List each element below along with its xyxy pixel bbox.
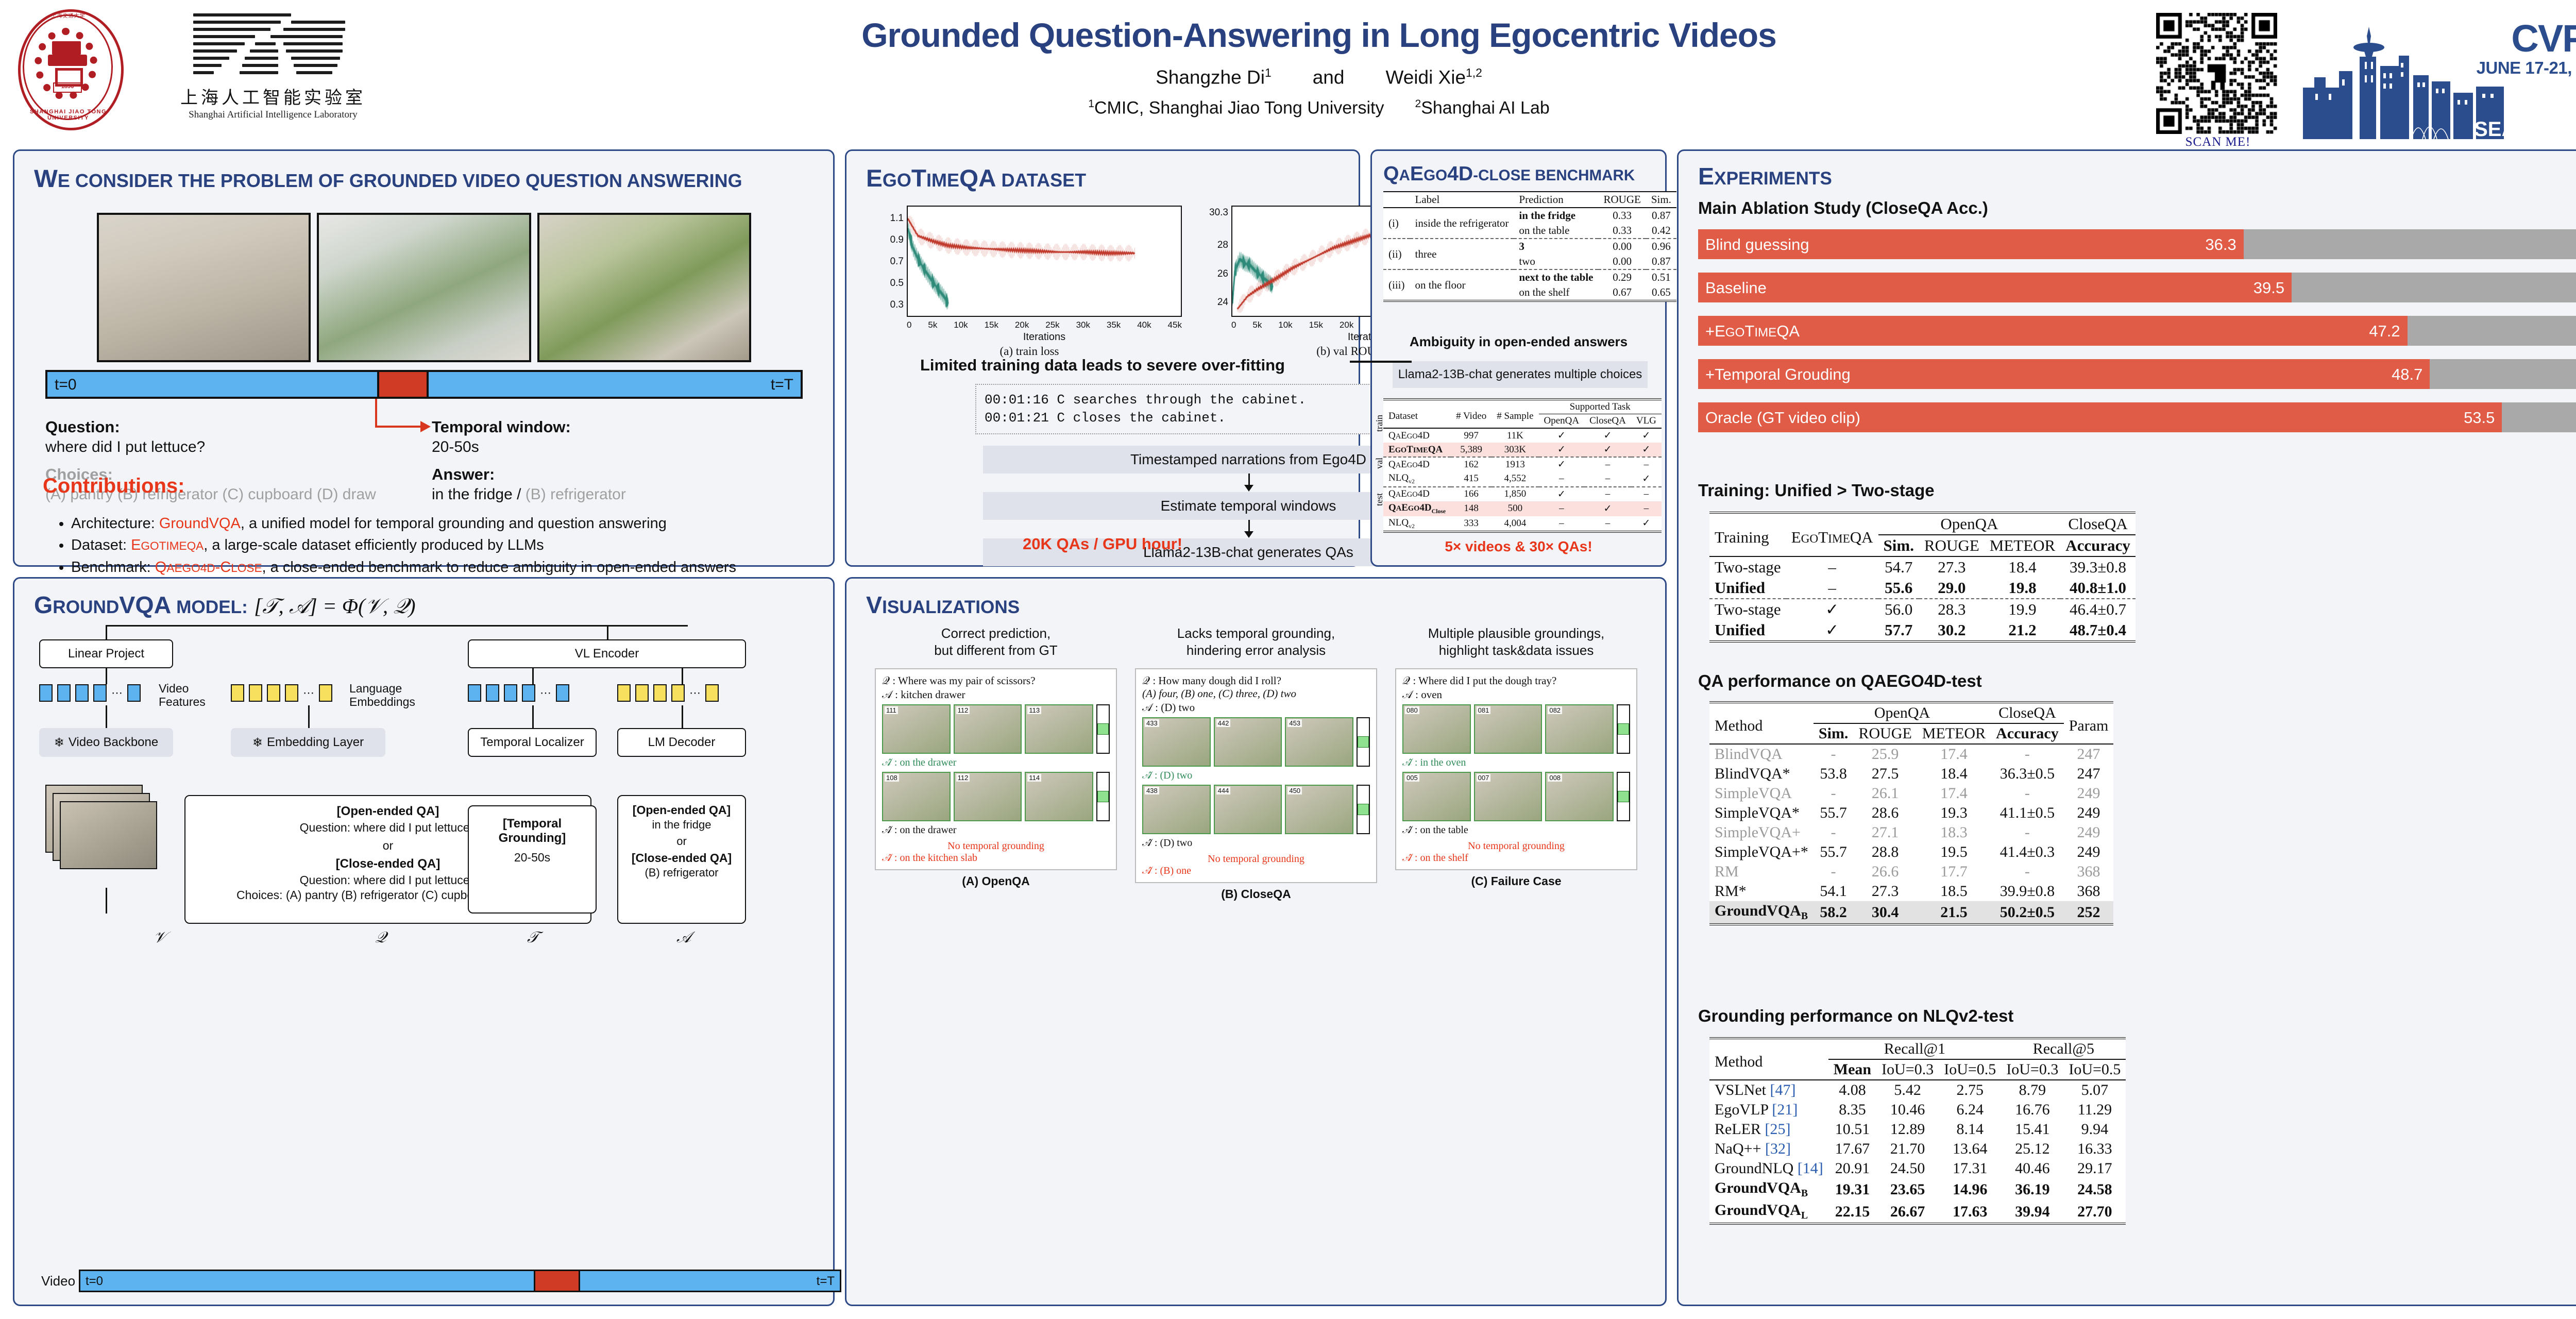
connector-5	[682, 668, 683, 684]
pipeline-to-benchmark-connector	[1350, 361, 1412, 363]
ablation-bar-fill: +Temporal Grouding48.7	[1698, 359, 2430, 389]
author-1: Shangzhe Di	[1156, 66, 1265, 88]
visualization-timeline-bar	[1357, 785, 1370, 834]
contribution-tail: , a unified model for temporal grounding…	[241, 515, 667, 532]
ablation-bar-fill: Oracle (GT video clip)53.5	[1698, 402, 2502, 432]
frame-number: 114	[1027, 774, 1041, 782]
row-sim: 0.65	[1646, 285, 1676, 300]
row-sim: 0.87	[1646, 254, 1676, 269]
question-label: Question:	[45, 418, 406, 436]
panel-qaego4d-close-benchmark: QAEGO4D-CLOSE BENCHMARKLabelPredictionRO…	[1370, 149, 1667, 567]
stats-closeqa: ✓	[1584, 443, 1631, 457]
stats-sample: 1,850	[1492, 487, 1538, 501]
contribution-name: GroundVQA	[159, 515, 241, 532]
row-rouge: 0.29	[1598, 269, 1646, 285]
visualization-heading: Correct prediction,but different from GT	[875, 625, 1117, 665]
sjtu-logo-icon: 上海交通大学 1896 SHANGHAI JIAO TONG UNIVERSIT…	[18, 9, 118, 125]
temporal-window-label: Temporal window:	[432, 418, 792, 436]
th-vlg: VLG	[1631, 414, 1662, 429]
ablation-bar-label: Blind guessing	[1705, 235, 1809, 254]
table-row: ReLER [25]10.5112.898.1415.419.94	[1709, 1120, 2126, 1139]
panel-problem-statement: WE CONSIDER THE PROBLEM OF GROUNDED VIDE…	[13, 149, 835, 567]
author-list: Shangzhe Di1andWeidi Xie1,2	[618, 66, 2020, 88]
stats-dataset: QAEGO4D	[1383, 457, 1451, 471]
sail-chinese-name: 上海人工智能实验室	[162, 83, 384, 109]
llama-box: Llama2-13B-chat generates multiple choic…	[1393, 361, 1648, 388]
visualization-frame-row: 005007008	[1402, 772, 1630, 821]
stats-vlg: –	[1631, 457, 1662, 471]
th-rouge: ROUGE	[1598, 192, 1646, 208]
visualization-question: 𝒬 : Where was my pair of scissors?	[882, 674, 1110, 687]
frame-number: 113	[1027, 706, 1041, 714]
contribution-item: Benchmark: QAEGO4D-CLOSE, a close-ended …	[71, 556, 844, 578]
open-qa-output-tag: [Open-ended QA]	[622, 803, 741, 817]
frame-number: 453	[1287, 719, 1302, 727]
stats-dataset: QAEGO4DClose	[1383, 501, 1451, 516]
visualization-card: 𝒬 : Where was my pair of scissors?𝒜 : ki…	[875, 668, 1117, 870]
row-prediction: on the shelf	[1514, 285, 1598, 300]
visualization-frame: 007	[1474, 772, 1543, 821]
stats-split-label: test	[1374, 493, 1385, 506]
panel-groundvqa-model: GROUNDVQA MODEL: [𝒯, 𝒜] = Φ(𝒱, 𝒬) Linear…	[13, 577, 835, 1306]
grounding-output-text: 20-50s	[474, 851, 590, 865]
table-row: RM-26.617.7-368	[1709, 862, 2113, 882]
close-qa-output-text: (B) refrigerator	[622, 866, 741, 880]
visualization-card: 𝒬 : How many dough did I roll?(A) four, …	[1135, 668, 1377, 883]
table-row: SimpleVQA+-27.118.3-249	[1709, 823, 2113, 842]
encoder-out-row-2: ⋯	[617, 684, 719, 702]
chart-xtick: 15k	[985, 320, 998, 330]
stats-vlg: ✓	[1631, 428, 1662, 443]
stats-video: 148	[1451, 501, 1492, 516]
stats-dataset: EGOTIMEQA	[1383, 443, 1451, 457]
th-sample: # Sample	[1492, 399, 1538, 428]
frame-number: 082	[1548, 706, 1562, 714]
connector-7	[682, 705, 683, 728]
row-rouge: 0.00	[1598, 239, 1646, 254]
poster-root: 上海交通大学 1896 SHANGHAI JIAO TONG UNIVERSIT…	[0, 0, 2576, 1319]
video-row-label: Video	[41, 1274, 75, 1289]
row-index: (iii)	[1383, 269, 1410, 300]
stats-dataset: QAEGO4D	[1383, 428, 1451, 443]
stats-openqa: ✓	[1539, 443, 1585, 457]
benchmark-table: LabelPredictionROUGESim.(i)inside the re…	[1383, 191, 1676, 302]
dataset-stats-table: Dataset# Video# SampleSupported TaskOpen…	[1383, 398, 1662, 533]
model-panel-title: GROUNDVQA MODEL: [𝒯, 𝒜] = Φ(𝒱, 𝒬)	[34, 591, 416, 619]
answer-block: Temporal window: 20-50s Answer: in the f…	[432, 418, 792, 503]
qr-code[interactable]	[2156, 13, 2277, 134]
visualization-timeline-bar	[1617, 704, 1630, 754]
row-label: on the floor	[1410, 269, 1514, 300]
symbol-a: 𝒜	[676, 929, 691, 947]
stats-sample: 4,552	[1492, 471, 1538, 487]
simplevqa-answer: 𝒜̂ : (B) one	[1142, 865, 1370, 877]
frame-number: 450	[1287, 787, 1302, 794]
frame-number: 007	[1477, 774, 1491, 782]
th-sim: Sim.	[1878, 535, 1919, 556]
table-row: QAEGO4D99711K✓✓✓	[1383, 428, 1662, 443]
stats-openqa: ✓	[1539, 457, 1585, 471]
affiliation-list: 1CMIC, Shanghai Jiao Tong University2Sha…	[618, 98, 2020, 118]
table-row: BlindVQA-25.917.4-247	[1709, 744, 2113, 764]
grounding-table: MethodRecall@1Recall@5MeanIoU=0.3IoU=0.5…	[1709, 1037, 2126, 1225]
visualization-timeline-bar	[1096, 772, 1110, 821]
stats-vlg: ✓	[1631, 443, 1662, 457]
encoder-out-row-1: ⋯	[468, 684, 569, 702]
stats-dataset: QAEGO4D	[1383, 487, 1451, 501]
stats-vlg: ✓	[1631, 471, 1662, 487]
ablation-bar-label: Baseline	[1705, 279, 1767, 297]
frame-number: 080	[1405, 706, 1419, 714]
oracle-answer: 𝒜̂ : (D) two	[1142, 770, 1370, 782]
sail-english-name: Shanghai Artificial Intelligence Laborat…	[162, 109, 384, 121]
stats-openqa: –	[1539, 501, 1585, 516]
connector-6	[532, 705, 534, 728]
stats-dataset: NLQv2	[1383, 471, 1451, 487]
row-rouge: 0.33	[1598, 208, 1646, 223]
table-row: QAEGO4D1621913✓––	[1383, 457, 1662, 471]
connector-top	[106, 625, 688, 627]
stats-closeqa: –	[1584, 457, 1631, 471]
chart-xtick: 25k	[1045, 320, 1059, 330]
th-dataset: Dataset	[1383, 399, 1451, 428]
th-openqa: OpenQA	[1814, 702, 1991, 723]
connector-video-up	[106, 888, 107, 914]
stats-split-label: val	[1374, 458, 1385, 469]
table-row: BlindVQA*53.827.518.436.3±0.5247	[1709, 764, 2113, 784]
poster-header: 上海交通大学 1896 SHANGHAI JIAO TONG UNIVERSIT…	[0, 0, 2576, 165]
qa-table-wrap: MethodOpenQACloseQAParamSim.ROUGEMETEORA…	[1709, 701, 2113, 925]
author-1-sup: 1	[1265, 66, 1272, 79]
chart-ytick: 30.3	[1199, 207, 1228, 218]
sjtu-year: 1896	[53, 82, 82, 93]
visualization-frame: 082	[1545, 704, 1614, 754]
table-row: GroundVQAB19.3123.6514.9636.1924.58	[1709, 1178, 2126, 1200]
contribution-item: Architecture: GroundVQA, a unified model…	[71, 513, 844, 534]
table-row: QAEGO4D1661,850✓––	[1383, 487, 1662, 501]
sjtu-logo-top-text: 上海交通大学	[18, 11, 118, 19]
chart-xtick: 10k	[1278, 320, 1292, 330]
row-prediction: in the fridge	[1514, 208, 1598, 223]
stats-openqa: ✓	[1539, 487, 1585, 501]
dataset-subtitle: Limited training data leads to severe ov…	[846, 356, 1359, 375]
stats-sample: 303K	[1492, 443, 1538, 457]
chart-a-xticks: 05k10k15k20k25k30k35k40k45k	[907, 320, 1182, 330]
grounding-output-tag: [Temporal Grounding]	[474, 817, 590, 845]
table-row: (i)inside the refrigeratorin the fridge0…	[1383, 208, 1676, 223]
author-2: Weidi Xie	[1385, 66, 1466, 88]
groundvqa-answer: 𝒜̂ : on the table	[1402, 824, 1630, 836]
ablation-bar-label: Oracle (GT video clip)	[1705, 409, 1860, 427]
chart-xtick: 0	[1231, 320, 1236, 330]
th-param: Param	[2064, 702, 2114, 744]
connector-8	[106, 625, 107, 639]
contribution-tail: , a large-scale dataset efficiently prod…	[204, 537, 544, 553]
visualization-frame-row: 438444450	[1142, 785, 1370, 834]
table-row: QAEGO4DClose148500–✓–	[1383, 501, 1662, 516]
affiliation-1: CMIC, Shanghai Jiao Tong University	[1094, 98, 1384, 117]
stats-sample: 500	[1492, 501, 1538, 516]
affil-2-marker: 2	[1415, 98, 1421, 110]
chart-xtick: 5k	[928, 320, 937, 330]
visualization-frame: 444	[1214, 785, 1282, 834]
frame-number: 444	[1216, 787, 1231, 794]
cvpr-city: SEATTLE, WA	[2474, 118, 2576, 141]
ablation-bar-row: Baseline39.5	[1698, 273, 2576, 302]
ablation-bar-value: 39.5	[2253, 279, 2284, 297]
visualization-frame: 433	[1142, 717, 1211, 767]
visualization-question: 𝒬 : How many dough did I roll?	[1142, 674, 1370, 687]
affil-1-marker: 1	[1088, 98, 1094, 110]
visualization-frame: 113	[1025, 704, 1093, 754]
chart-ytick: 0.9	[875, 234, 904, 246]
visualization-frame: 080	[1402, 704, 1471, 754]
stats-sample: 1913	[1492, 457, 1538, 471]
stats-video: 5,389	[1451, 443, 1492, 457]
simplevqa-answer: 𝒜̂ : on the shelf	[1402, 852, 1630, 864]
th-label: Label	[1410, 192, 1514, 208]
frame-number: 438	[1145, 787, 1159, 794]
qa-performance-title: QA performance on QAEGO4D-test	[1698, 671, 1982, 691]
chart-ytick: 28	[1199, 240, 1228, 251]
th-supported-task: Supported Task	[1539, 399, 1662, 414]
model-timeline-window	[534, 1270, 580, 1292]
table-row: Two-stage–54.727.318.439.3±0.8	[1709, 556, 2136, 578]
stats-closeqa: –	[1584, 471, 1631, 487]
visualization-column: Lacks temporal grounding,hindering error…	[1135, 625, 1377, 901]
experiments-panel-title: EXPERIMENTS	[1698, 162, 1832, 190]
model-equation: [𝒯, 𝒜] = Φ(𝒱, 𝒬)	[254, 594, 415, 618]
th-video: # Video	[1451, 399, 1492, 428]
answer-label: Answer:	[432, 465, 792, 484]
stats-video: 415	[1451, 471, 1492, 487]
ablation-bar-label: +EGOTIMEQA	[1705, 322, 1800, 341]
no-grounding-note: No temporal grounding	[882, 840, 1110, 852]
ablation-bar-row: Blind guessing36.3	[1698, 229, 2576, 259]
th-accuracy: Accuracy	[2060, 535, 2136, 556]
box-answer-output: [Open-ended QA] in the fridge or [Close-…	[617, 795, 746, 924]
ablation-bar-row: +EGOTIMEQA47.2	[1698, 316, 2576, 346]
visualization-choices: (A) four, (B) one, (C) three, (D) two	[1142, 687, 1370, 700]
th-recall1: Recall@1	[1828, 1038, 2001, 1059]
table-row: NLQv24154,552––✓	[1383, 471, 1662, 487]
box-embedding-layer: ❄Embedding Layer	[231, 728, 385, 757]
chart-xtick: 20k	[1340, 320, 1353, 330]
chart-ytick: 0.3	[875, 299, 904, 311]
cvpr-name: CVPR	[2477, 22, 2576, 56]
snowflake-icon-2: ❄	[252, 735, 263, 750]
chart-ytick: 1.1	[875, 213, 904, 224]
contribution-head: Benchmark:	[71, 559, 155, 576]
close-qa-output-tag: [Close-ended QA]	[622, 851, 741, 865]
row-prediction: two	[1514, 254, 1598, 269]
frame-number: 112	[956, 774, 970, 782]
affiliation-2: Shanghai AI Lab	[1421, 98, 1550, 117]
visualization-frame-row: 108112114	[882, 772, 1110, 821]
table-row: (ii)three30.000.96	[1383, 239, 1676, 254]
contribution-head: Dataset:	[71, 537, 131, 553]
language-embeddings-label: LanguageEmbeddings	[349, 682, 415, 709]
table-row: GroundNLQ [14]20.9124.5017.3140.4629.17	[1709, 1159, 2126, 1178]
th-prediction: Prediction	[1514, 192, 1598, 208]
row-rouge: 0.00	[1598, 254, 1646, 269]
box-lm-decoder: LM Decoder	[617, 728, 746, 757]
visualization-gt-answer: 𝒜 : kitchen drawer	[882, 688, 1110, 701]
video-frame-1	[97, 213, 311, 362]
stats-sample: 11K	[1492, 428, 1538, 443]
open-qa-output-text: in the fridge	[622, 818, 741, 832]
ablation-title: Main Ablation Study (CloseQA Acc.)	[1698, 198, 1988, 218]
output-or: or	[622, 835, 741, 848]
chart-ytick: 0.7	[875, 256, 904, 267]
ambiguity-note: Ambiguity in open-ended answers	[1372, 334, 1665, 350]
visualization-frame: 114	[1025, 772, 1093, 821]
row-rouge: 0.67	[1598, 285, 1646, 300]
visualization-frame: 438	[1142, 785, 1211, 834]
visualization-column: Multiple plausible groundings,highlight …	[1395, 625, 1637, 888]
qa-performance-table: MethodOpenQACloseQAParamSim.ROUGEMETEORA…	[1709, 701, 2113, 925]
frame-number: 112	[956, 706, 970, 714]
video-token-row: ⋯	[39, 684, 141, 702]
scan-me-label: SCAN ME!	[2146, 135, 2290, 149]
table-row: Unified–55.629.019.840.8±1.0	[1709, 578, 2136, 599]
dataset-footer-note: 20K QAs / GPU hour!	[846, 535, 1359, 553]
visualization-frame: 112	[954, 772, 1022, 821]
chart-xtick: 5k	[1252, 320, 1262, 330]
connector-3	[308, 705, 310, 728]
stats-openqa: –	[1539, 516, 1585, 531]
ablation-bar-fill: Baseline39.5	[1698, 273, 2292, 302]
th-training: Training	[1709, 513, 1786, 556]
frame-number: 433	[1145, 719, 1159, 727]
visualization-timeline-bar	[1357, 717, 1370, 767]
video-frame-3	[537, 213, 751, 362]
visualization-gt-answer: 𝒜 : (D) two	[1142, 701, 1370, 714]
stats-footer: 5× videos & 30× QAs!	[1372, 538, 1665, 555]
contribution-tail: , a close-ended benchmark to reduce ambi…	[262, 559, 737, 576]
training-table-wrap: TrainingEGOTIMEQAOpenQACloseQASim.ROUGEM…	[1709, 512, 2136, 642]
row-label: inside the refrigerator	[1410, 208, 1514, 239]
row-label: three	[1410, 239, 1514, 269]
visualization-frame: 112	[954, 704, 1022, 754]
connector-9	[607, 625, 608, 639]
th-method: Method	[1709, 1038, 1828, 1080]
visualization-column: Correct prediction,but different from GT…	[875, 625, 1117, 888]
frame-number: 111	[885, 706, 898, 714]
box-vl-encoder: VL Encoder	[468, 639, 746, 668]
stats-sample: 4,004	[1492, 516, 1538, 531]
groundvqa-answer: 𝒜̂ : (D) two	[1142, 837, 1370, 849]
contribution-name: QAEGO4D-CLOSE	[155, 559, 262, 576]
video-frame-2	[317, 213, 531, 362]
visualization-heading: Multiple plausible groundings,highlight …	[1395, 625, 1637, 665]
no-grounding-note: No temporal grounding	[1142, 853, 1370, 865]
video-features-label: VideoFeatures	[159, 682, 206, 709]
frame-number: 442	[1216, 719, 1231, 727]
page-title: Grounded Question-Answering in Long Egoc…	[618, 15, 2020, 55]
visualization-frame: 442	[1214, 717, 1282, 767]
row-sim: 0.42	[1646, 223, 1676, 239]
ablation-bar-label: +Temporal Grouding	[1705, 365, 1851, 384]
grounding-table-wrap: MethodRecall@1Recall@5MeanIoU=0.3IoU=0.5…	[1709, 1037, 2126, 1225]
timeline-highlight-window	[377, 370, 429, 399]
table-row: NLQv23334,004––✓	[1383, 516, 1662, 531]
chart-ytick: 0.5	[875, 278, 904, 289]
th-recall5: Recall@5	[2001, 1038, 2126, 1059]
th-openqa: OpenQA	[1539, 414, 1585, 429]
stats-video: 162	[1451, 457, 1492, 471]
contribution-item: Dataset: EGOTIMEQA, a large-scale datase…	[71, 534, 844, 556]
stats-openqa: ✓	[1539, 428, 1585, 443]
panel-experiments: EXPERIMENTS Main Ablation Study (CloseQA…	[1677, 149, 2576, 1306]
groundvqa-answer: 𝒜̂ : on the drawer	[882, 824, 1110, 836]
cvpr-logo: CVPR JUNE 17-21, 2024 SEATTLE, WA	[2303, 10, 2576, 139]
box-temporal-localizer: Temporal Localizer	[468, 728, 597, 757]
visualization-frame: 450	[1285, 785, 1353, 834]
problem-panel-title: WE CONSIDER THE PROBLEM OF GROUNDED VIDE…	[34, 164, 742, 193]
example-video-frames	[97, 213, 751, 362]
stats-openqa: –	[1539, 471, 1585, 487]
visualizations-panel-title: VISUALIZATIONS	[866, 591, 1020, 619]
stats-closeqa: –	[1584, 516, 1631, 531]
chart-xtick: 40k	[1137, 320, 1151, 330]
author-conjunction: and	[1313, 66, 1345, 88]
visualization-frame-row: 111112113	[882, 704, 1110, 754]
stats-video: 997	[1451, 428, 1492, 443]
visualization-frame: 453	[1285, 717, 1353, 767]
contributions-title: Contributions:	[43, 475, 185, 498]
th-closeqa: CloseQA	[1584, 414, 1631, 429]
stats-vlg: –	[1631, 501, 1662, 516]
frame-number: 108	[885, 774, 899, 782]
table-row: EGOTIMEQA5,389303K✓✓✓	[1383, 443, 1662, 457]
th-openqa: OpenQA	[1878, 513, 2061, 535]
no-grounding-note: No temporal grounding	[1402, 840, 1630, 852]
dataset-panel-title: EGOTIMEQA DATASET	[866, 164, 1086, 193]
frame-number: 008	[1548, 774, 1562, 782]
symbol-q: 𝒬	[375, 929, 386, 947]
timeline-end-label: t=T	[771, 376, 793, 394]
frame-number: 005	[1405, 774, 1419, 782]
table-row: Unified✓57.730.221.248.7±0.4	[1709, 620, 2136, 640]
visualization-frame-row: 080081082	[1402, 704, 1630, 754]
visualization-frame: 005	[1402, 772, 1471, 821]
box-grounding-output: [Temporal Grounding] 20-50s	[468, 805, 597, 914]
simplevqa-answer: 𝒜̂ : on the kitchen slab	[882, 852, 1110, 864]
connector-1	[106, 668, 107, 684]
connector-4	[532, 668, 534, 684]
answer-text: in the fridge / (B) refrigerator	[432, 486, 792, 503]
symbol-v: 𝒱	[154, 929, 166, 947]
th-egotimeqa: EGOTIMEQA	[1786, 513, 1878, 556]
visualization-frame-row: 433442453	[1142, 717, 1370, 767]
visualization-gt-answer: 𝒜 : oven	[1402, 688, 1630, 701]
stats-vlg: ✓	[1631, 516, 1662, 531]
th-closeqa: CloseQA	[1991, 702, 2064, 723]
visualization-frame: 108	[882, 772, 951, 821]
contribution-name: EGOTIMEQA	[131, 537, 204, 553]
connector-2	[106, 705, 107, 728]
visualization-footer: (C) Failure Case	[1395, 874, 1637, 888]
chart-a-xlabel: Iterations	[907, 331, 1182, 343]
th-meteor: METEOR	[1985, 535, 2060, 556]
cvpr-date: JUNE 17-21, 2024	[2477, 58, 2576, 78]
stats-closeqa: –	[1584, 487, 1631, 501]
snowflake-icon: ❄	[54, 735, 64, 750]
chart-ytick: 24	[1199, 297, 1228, 308]
temporal-window-text: 20-50s	[432, 438, 792, 456]
th-sim: Sim.	[1646, 192, 1676, 208]
